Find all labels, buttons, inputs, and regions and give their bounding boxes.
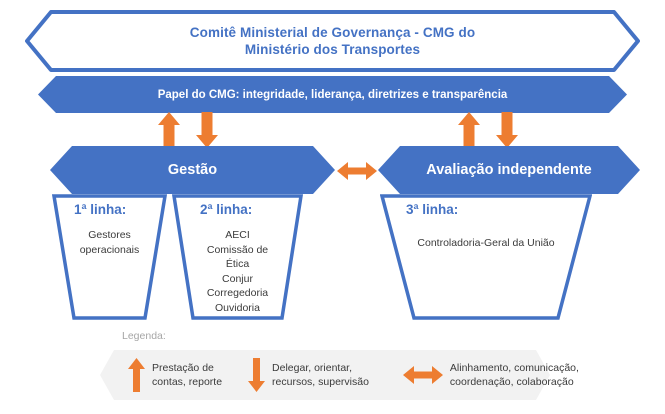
second-line-title: 2ª linha: (172, 202, 303, 217)
diagram-canvas: Comitê Ministerial de Governança - CMG d… (0, 0, 665, 414)
legend-item: Prestação de contas, reporte (128, 358, 222, 392)
gestao-header-chevron: Gestão (50, 146, 335, 194)
list-item: operacionais (66, 243, 153, 258)
cmg-role-label: Papel do CMG: integridade, liderança, di… (38, 76, 627, 113)
list-item: AECI (190, 228, 285, 243)
arrow-left-right-icon (403, 365, 443, 385)
alignment-bidirectional-arrow (337, 161, 377, 181)
legend-line-1: Delegar, orientar, (272, 361, 369, 376)
legend-item-text: Prestação de contas, reporte (152, 361, 222, 390)
arrow-left-right-icon (337, 161, 377, 181)
arrow-up-icon (155, 112, 235, 148)
legend-line-1: Prestação de (152, 361, 222, 376)
legend-title: Legenda: (122, 330, 166, 342)
legend-line-2: contas, reporte (152, 375, 222, 390)
first-line-trapezoid: 1ª linha: Gestores operacionais (52, 194, 167, 320)
avaliacao-header-chevron: Avaliação independente (378, 146, 640, 194)
legend-item: Alinhamento, comunicação, coordenação, c… (403, 361, 579, 390)
list-item: Gestores (66, 228, 153, 243)
legend-item: Delegar, orientar, recursos, supervisão (248, 358, 369, 392)
gestao-header-label: Gestão (50, 146, 335, 194)
arrow-up-icon (455, 112, 535, 148)
legend-line-1: Alinhamento, comunicação, (450, 361, 579, 376)
arrow-down-icon (248, 358, 265, 392)
list-item: Ética (190, 257, 285, 272)
arrow-up-icon (128, 358, 145, 392)
cmg-banner-line-1: Comitê Ministerial de Governança - CMG d… (190, 24, 475, 41)
legend-line-2: coordenação, colaboração (450, 375, 579, 390)
first-line-title: 1ª linha: (52, 202, 167, 217)
legend-item-text: Alinhamento, comunicação, coordenação, c… (450, 361, 579, 390)
second-line-items: AECI Comissão de Ética Conjur Corregedor… (172, 228, 303, 315)
cmg-banner-line-2: Ministério dos Transportes (245, 41, 420, 58)
third-line-items: Controladoria-Geral da União (380, 236, 592, 251)
avaliacao-arrow-pair (455, 112, 535, 148)
third-line-title: 3ª linha: (380, 202, 592, 217)
second-line-trapezoid: 2ª linha: AECI Comissão de Ética Conjur … (172, 194, 303, 320)
cmg-banner-label: Comitê Ministerial de Governança - CMG d… (85, 10, 580, 72)
arrow-down-icon (196, 112, 218, 148)
legend-item-text: Delegar, orientar, recursos, supervisão (272, 361, 369, 390)
list-item: Corregedoria (190, 286, 285, 301)
avaliacao-header-label: Avaliação independente (378, 146, 640, 194)
list-item: Ouvidoria (190, 301, 285, 316)
cmg-role-banner: Papel do CMG: integridade, liderança, di… (38, 76, 627, 113)
legend-line-2: recursos, supervisão (272, 375, 369, 390)
legend-band: Prestação de contas, reporte Delegar, or… (100, 350, 550, 400)
third-line-trapezoid: 3ª linha: Controladoria-Geral da União (380, 194, 592, 320)
first-line-items: Gestores operacionais (52, 228, 167, 257)
cmg-committee-banner: Comitê Ministerial de Governança - CMG d… (25, 10, 640, 72)
list-item: Conjur (190, 272, 285, 287)
gestao-arrow-pair (155, 112, 235, 148)
list-item: Controladoria-Geral da União (406, 236, 566, 251)
arrow-down-icon (496, 112, 518, 148)
list-item: Comissão de (190, 243, 285, 258)
legend-items: Prestação de contas, reporte Delegar, or… (100, 350, 550, 400)
